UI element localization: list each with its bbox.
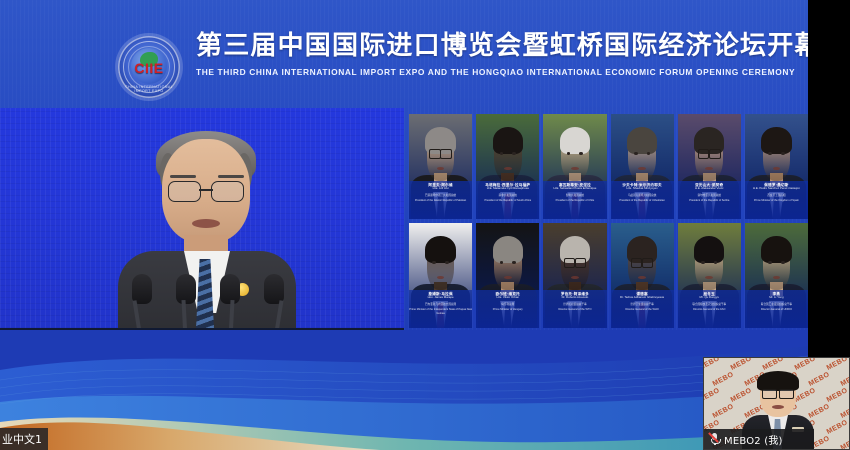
leader-name-english: H.E. Arif Alvi	[409, 187, 472, 191]
pip-backdrop-logo: MEBO	[826, 357, 849, 372]
leader-name-english: H.E. Shavkat Mirziyoyev	[611, 187, 674, 191]
leader-portrait-card: 李勇Mr. Li Yong联合国工业发展组织总干事Director-Genera…	[745, 223, 808, 328]
leader-portrait-card: 佩德罗·桑切斯H.E. Pedro Sanchez Perez-Castejon…	[745, 114, 808, 219]
leader-caption: 屈冬玉Mr. Qu Dongyu联合国粮食及农业组织总干事Director-Ge…	[678, 290, 741, 328]
pip-backdrop-logo: MEBO	[712, 371, 735, 388]
leader-caption: 阿里夫·阿尔维H.E. Arif Alvi巴基斯坦伊斯兰共和国总统Preside…	[409, 181, 472, 219]
leader-title-english: President of the Republic of South Afric…	[476, 199, 539, 202]
pip-backdrop-logo: MEBO	[712, 403, 735, 420]
leader-name-english: Dr. Roberto Azevedo	[543, 296, 606, 300]
leader-portrait-card: 屈冬玉Mr. Qu Dongyu联合国粮食及农业组织总干事Director-Ge…	[678, 223, 741, 328]
pip-glasses-icon	[762, 389, 794, 397]
leader-title-chinese: 乌兹别克斯坦共和国总统	[611, 194, 674, 197]
leader-portrait-card: 罗伯托·阿泽维多Dr. Roberto Azevedo世界贸易组织总干事Dire…	[543, 223, 606, 328]
leader-name-english: H.E. Aleksandar Vucic	[678, 187, 741, 191]
leader-name-english: Mr. Li Yong	[745, 296, 808, 300]
pip-name-bar: MEBO2 (我)	[704, 429, 814, 449]
leader-caption: 罗伯托·阿泽维多Dr. Roberto Azevedo世界贸易组织总干事Dire…	[543, 290, 606, 328]
leader-glasses-icon	[564, 258, 587, 266]
leader-title-chinese: 巴基斯坦伊斯兰共和国总统	[409, 194, 472, 197]
subtitle-text: 业中文1	[0, 431, 42, 447]
leader-title-chinese: 智利共和国总统	[543, 194, 606, 197]
pip-backdrop-logo: MEBO	[840, 435, 850, 450]
pip-backdrop-logo: MEBO	[826, 387, 849, 404]
leader-title-english: Prime Minister of the Independent State …	[409, 308, 472, 315]
leader-title-english: President of the Republic of Uzbekistan	[611, 199, 674, 202]
leader-name-english: Hon. James Marape	[409, 296, 472, 300]
leader-title-chinese: 联合国工业发展组织总干事	[745, 303, 808, 306]
speaker-brow-right	[218, 175, 244, 178]
leader-portrait-card: 马塔梅拉·西里尔·拉马福萨H.E. Matamela Cyril Ramapho…	[476, 114, 539, 219]
leader-title-english: President of the Republic of Chile	[543, 199, 606, 202]
leader-title-english: President of the Islamic Republic of Pak…	[409, 199, 472, 202]
leader-name-english: Mr. Qu Dongyu	[678, 296, 741, 300]
leader-name-english: H.E. Viktor Orban	[476, 296, 539, 300]
leader-caption: 李勇Mr. Li Yong联合国工业发展组织总干事Director-Genera…	[745, 290, 808, 328]
pip-mouth	[772, 405, 784, 409]
pip-backdrop-logo: MEBO	[826, 419, 849, 436]
leader-title-english: Director-General of the FAO	[678, 308, 741, 311]
leader-title-chinese: 塞尔维亚共和国总统	[678, 194, 741, 197]
leader-portrait-card: 谭德塞Dr. Tedros Adhanom Ghebreyesus世界卫生组织总…	[611, 223, 674, 328]
leader-title-chinese: 世界卫生组织总干事	[611, 303, 674, 306]
microphone-muted-icon	[710, 433, 719, 445]
leader-caption: 沙夫卡特·米尔济约耶夫H.E. Shavkat Mirziyoyev乌兹别克斯坦…	[611, 181, 674, 219]
leader-portrait-card: 沙夫卡特·米尔济约耶夫H.E. Shavkat Mirziyoyev乌兹别克斯坦…	[611, 114, 674, 219]
speaker-brow-left	[170, 175, 196, 178]
leader-glasses-icon	[631, 258, 654, 266]
leader-title-english: President of the Republic of Serbia	[678, 199, 741, 202]
leader-title-english: Director-General of UNIDO	[745, 308, 808, 311]
leader-name-english: H.E. Sebastian Pinera Echenique	[543, 187, 606, 191]
pip-backdrop-logo: MEBO	[703, 387, 721, 404]
leader-portrait-card: 亚历山大·武契奇H.E. Aleksandar Vucic塞尔维亚共和国总统Pr…	[678, 114, 741, 219]
event-title-chinese: 第三届中国国际进口博览会暨虹桥国际经济论坛开幕式	[196, 32, 800, 62]
speaker-video-panel	[0, 108, 404, 346]
leader-glasses-icon	[698, 149, 721, 157]
leader-title-chinese: 匈牙利总理	[476, 303, 539, 306]
subtitle-overlay: 业中文1	[0, 428, 48, 450]
leader-title-english: Director-General of the WTO	[543, 308, 606, 311]
leader-name-english: H.E. Matamela Cyril Ramaphosa	[476, 187, 539, 191]
leader-portrait-card: 阿里夫·阿尔维H.E. Arif Alvi巴基斯坦伊斯兰共和国总统Preside…	[409, 114, 472, 219]
leader-portrait-card: 塞瓦斯蒂安·皮涅拉H.E. Sebastian Pinera Echenique…	[543, 114, 606, 219]
video-call-screen: CIIE CHINA INTERNATIONAL IMPORT EXPO 第三届…	[0, 0, 850, 450]
speaker-mouth	[192, 219, 220, 228]
leader-title-english: Prime Minister of Hungary	[476, 308, 539, 311]
leader-caption: 欧尔班·维克托H.E. Viktor Orban匈牙利总理Prime Minis…	[476, 290, 539, 328]
leader-caption: 塞瓦斯蒂安·皮涅拉H.E. Sebastian Pinera Echenique…	[543, 181, 606, 219]
pip-hair	[757, 371, 799, 391]
leader-title-chinese: 西班牙王国首相	[745, 194, 808, 197]
pip-backdrop-logo: MEBO	[703, 357, 721, 372]
leader-caption: 佩德罗·桑切斯H.E. Pedro Sanchez Perez-Castejon…	[745, 181, 808, 219]
leader-title-chinese: 联合国粮食及农业组织总干事	[678, 303, 741, 306]
leader-name-english: H.E. Pedro Sanchez Perez-Castejon	[745, 187, 808, 191]
pip-backdrop-logo: MEBO	[840, 403, 850, 420]
leader-portrait-card: 詹姆斯·马拉佩Hon. James Marape巴布亚新几内亚独立国总理Prim…	[409, 223, 472, 328]
self-view-thumbnail[interactable]: MEBOMEBOMEBOMEBOMEBOMEBOMEBOMEBOMEBOMEBO…	[703, 357, 850, 450]
leader-title-chinese: 世界贸易组织总干事	[543, 303, 606, 306]
leader-caption: 詹姆斯·马拉佩Hon. James Marape巴布亚新几内亚独立国总理Prim…	[409, 290, 472, 328]
ciie-logo-icon: CIIE CHINA INTERNATIONAL IMPORT EXPO	[118, 36, 180, 98]
leader-caption: 亚历山大·武契奇H.E. Aleksandar Vucic塞尔维亚共和国总统Pr…	[678, 181, 741, 219]
logo-arc-text: CHINA INTERNATIONAL IMPORT EXPO	[118, 85, 180, 93]
leader-glasses-icon	[429, 149, 452, 157]
pip-participant-name: MEBO2 (我)	[724, 432, 783, 447]
leader-title-chinese: 南非共和国总统	[476, 194, 539, 197]
world-leaders-grid: 阿里夫·阿尔维H.E. Arif Alvi巴基斯坦伊斯兰共和国总统Preside…	[409, 114, 808, 328]
logo-wordmark: CIIE	[118, 60, 180, 76]
event-titles: 第三届中国国际进口博览会暨虹桥国际经济论坛开幕式 THE THIRD CHINA…	[196, 32, 800, 77]
leader-name-english: Dr. Tedros Adhanom Ghebreyesus	[611, 296, 674, 300]
leader-portrait-card: 欧尔班·维克托H.E. Viktor Orban匈牙利总理Prime Minis…	[476, 223, 539, 328]
leader-title-english: Director-General of the WHO	[611, 308, 674, 311]
decorative-wave-graphic	[0, 330, 808, 450]
speaker-glasses-icon	[168, 181, 244, 200]
leader-title-english: Prime Minister of the Kingdom of Spain	[745, 199, 808, 202]
leader-caption: 马塔梅拉·西里尔·拉马福萨H.E. Matamela Cyril Ramapho…	[476, 181, 539, 219]
event-header: CIIE CHINA INTERNATIONAL IMPORT EXPO 第三届…	[0, 14, 808, 86]
pip-backdrop-logo: MEBO	[840, 371, 850, 388]
shared-screen-video[interactable]: CIIE CHINA INTERNATIONAL IMPORT EXPO 第三届…	[0, 0, 808, 450]
leader-title-chinese: 巴布亚新几内亚独立国总理	[409, 303, 472, 306]
leader-caption: 谭德塞Dr. Tedros Adhanom Ghebreyesus世界卫生组织总…	[611, 290, 674, 328]
event-title-english: THE THIRD CHINA INTERNATIONAL IMPORT EXP…	[196, 67, 800, 77]
